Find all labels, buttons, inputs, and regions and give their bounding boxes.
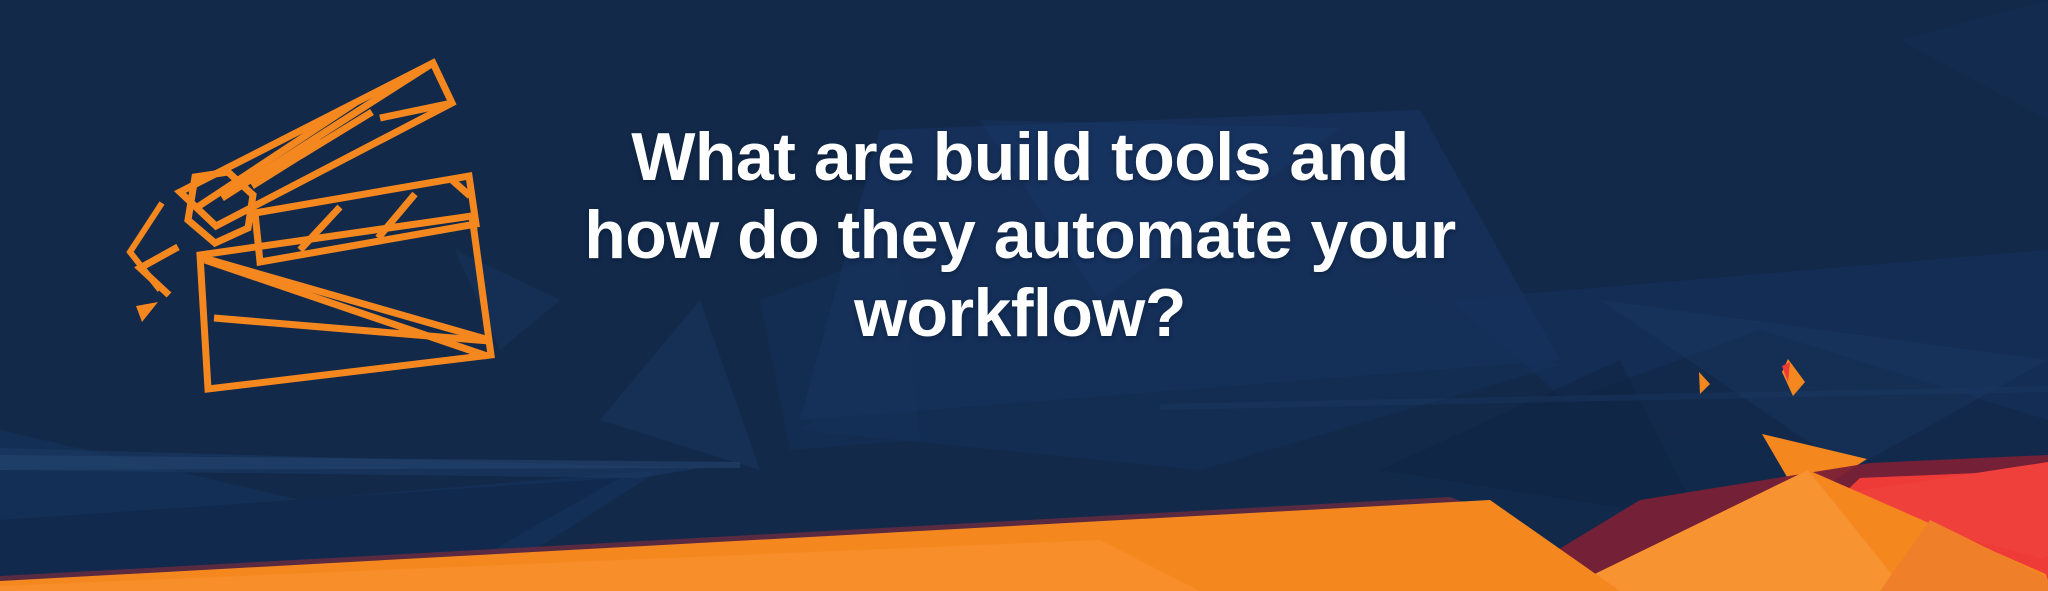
hero-banner: What are build tools and how do they aut… bbox=[0, 0, 2048, 591]
small-triangle-left bbox=[1699, 372, 1710, 394]
decorative-shapes bbox=[0, 0, 2048, 591]
